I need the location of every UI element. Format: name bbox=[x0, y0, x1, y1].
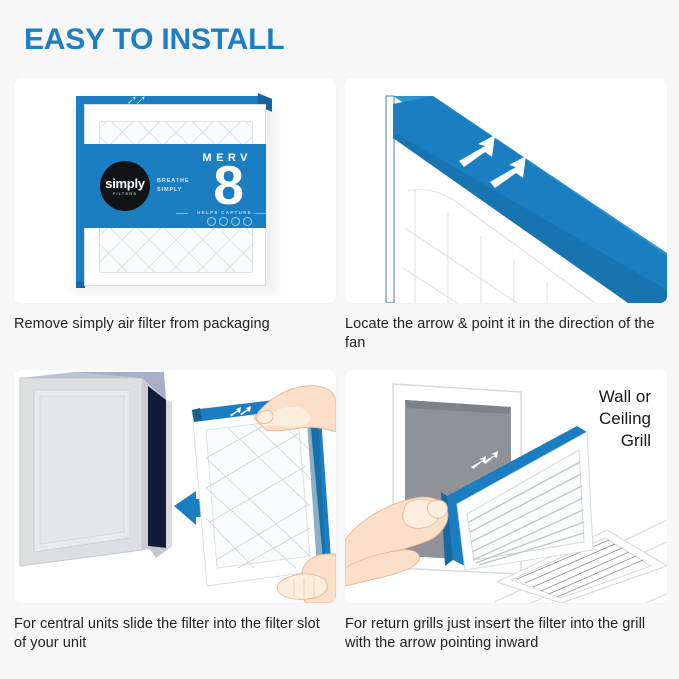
step-1-image-card: simply FILTERS BREATHE SIMPLY MERV 8 HEL… bbox=[14, 78, 336, 303]
grill-label-line-2: Ceiling bbox=[599, 408, 651, 430]
filter-arrow-illustration bbox=[345, 78, 667, 303]
page-title: EASY TO INSTALL bbox=[24, 25, 284, 55]
slide-filter-diagram bbox=[14, 370, 336, 603]
allergen-icon bbox=[207, 217, 216, 226]
hand-top bbox=[254, 386, 336, 432]
step-4-cell: Wall or Ceiling Grill For return grills … bbox=[345, 370, 667, 665]
filter-package-illustration: simply FILTERS BREATHE SIMPLY MERV 8 HEL… bbox=[14, 78, 336, 303]
helps-rule-right bbox=[254, 213, 266, 214]
filter-box: simply FILTERS BREATHE SIMPLY MERV 8 HEL… bbox=[76, 96, 276, 288]
step-4-image-card: Wall or Ceiling Grill bbox=[345, 370, 667, 603]
grill-label-line-1: Wall or bbox=[599, 386, 651, 408]
merv-rating-value: 8 bbox=[213, 158, 244, 213]
mold-icon bbox=[243, 217, 252, 226]
step-3-image-card bbox=[14, 370, 336, 603]
step-1-cell: simply FILTERS BREATHE SIMPLY MERV 8 HEL… bbox=[14, 78, 336, 368]
page-root: EASY TO INSTALL bbox=[0, 0, 679, 679]
arrow-edge-diagram bbox=[345, 78, 667, 303]
dust-icon bbox=[219, 217, 228, 226]
step-3-caption: For central units slide the filter into … bbox=[14, 615, 336, 653]
brand-name: simply bbox=[105, 177, 144, 190]
tagline-line-2: SIMPLY bbox=[157, 186, 189, 195]
package-label-band: simply FILTERS BREATHE SIMPLY MERV 8 HEL… bbox=[84, 144, 266, 228]
return-grill-illustration: Wall or Ceiling Grill bbox=[345, 370, 667, 603]
tagline-line-1: BREATHE bbox=[157, 177, 189, 186]
wall-or-ceiling-grill-label: Wall or Ceiling Grill bbox=[599, 386, 651, 452]
central-unit-illustration bbox=[14, 370, 336, 603]
step-2-image-card bbox=[345, 78, 667, 303]
step-2-cell: Locate the arrow & point it in the direc… bbox=[345, 78, 667, 368]
brand-subtitle: FILTERS bbox=[113, 191, 138, 196]
step-3-cell: For central units slide the filter into … bbox=[14, 370, 336, 665]
hvac-unit bbox=[20, 372, 172, 566]
step-4-caption: For return grills just insert the filter… bbox=[345, 615, 667, 653]
capture-icons-row bbox=[207, 217, 252, 226]
helps-rule-left bbox=[176, 213, 188, 214]
brand-tagline: BREATHE SIMPLY bbox=[157, 177, 189, 194]
step-1-caption: Remove simply air filter from packaging bbox=[14, 315, 336, 334]
pollen-icon bbox=[231, 217, 240, 226]
grill-label-line-3: Grill bbox=[599, 430, 651, 452]
step-2-caption: Locate the arrow & point it in the direc… bbox=[345, 315, 667, 353]
brand-logo: simply FILTERS bbox=[100, 161, 150, 211]
helps-capture-label: HELPS CAPTURE bbox=[197, 210, 252, 215]
